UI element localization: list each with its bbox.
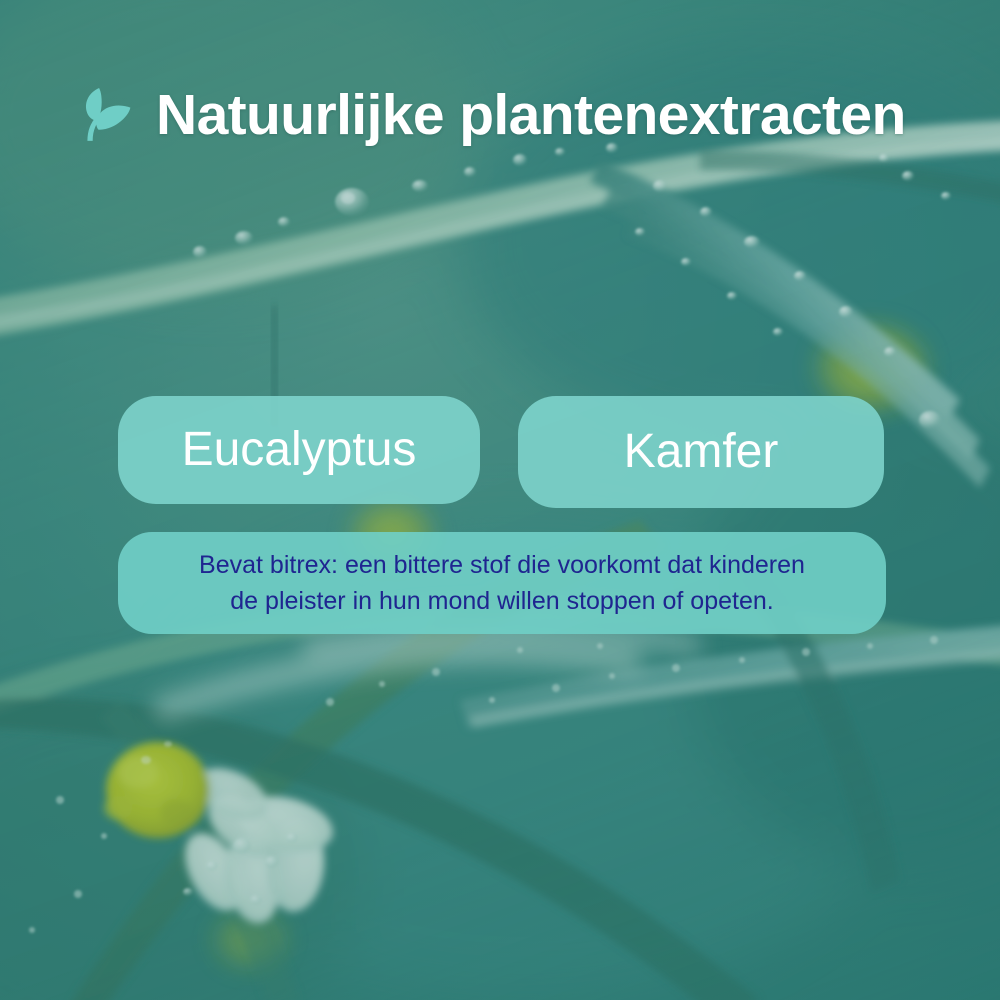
header: Natuurlijke plantenextracten [76, 84, 906, 146]
ingredient-pill-eucalyptus[interactable]: Eucalyptus [118, 396, 480, 504]
ingredient-label: Kamfer [624, 428, 779, 476]
bitrex-note-box: Bevat bitrex: een bittere stof die voork… [118, 532, 886, 634]
bitrex-note-line-1: Bevat bitrex: een bittere stof die voork… [199, 547, 805, 584]
bitrex-note-line-2: de pleister in hun mond willen stoppen o… [230, 583, 773, 620]
leaf-sprout-icon [76, 84, 134, 146]
page-title: Natuurlijke plantenextracten [156, 87, 906, 144]
ingredient-pill-kamfer[interactable]: Kamfer [518, 396, 884, 508]
promo-card: Natuurlijke plantenextracten Eucalyptus … [0, 0, 1000, 1000]
ingredient-label: Eucalyptus [182, 426, 417, 474]
